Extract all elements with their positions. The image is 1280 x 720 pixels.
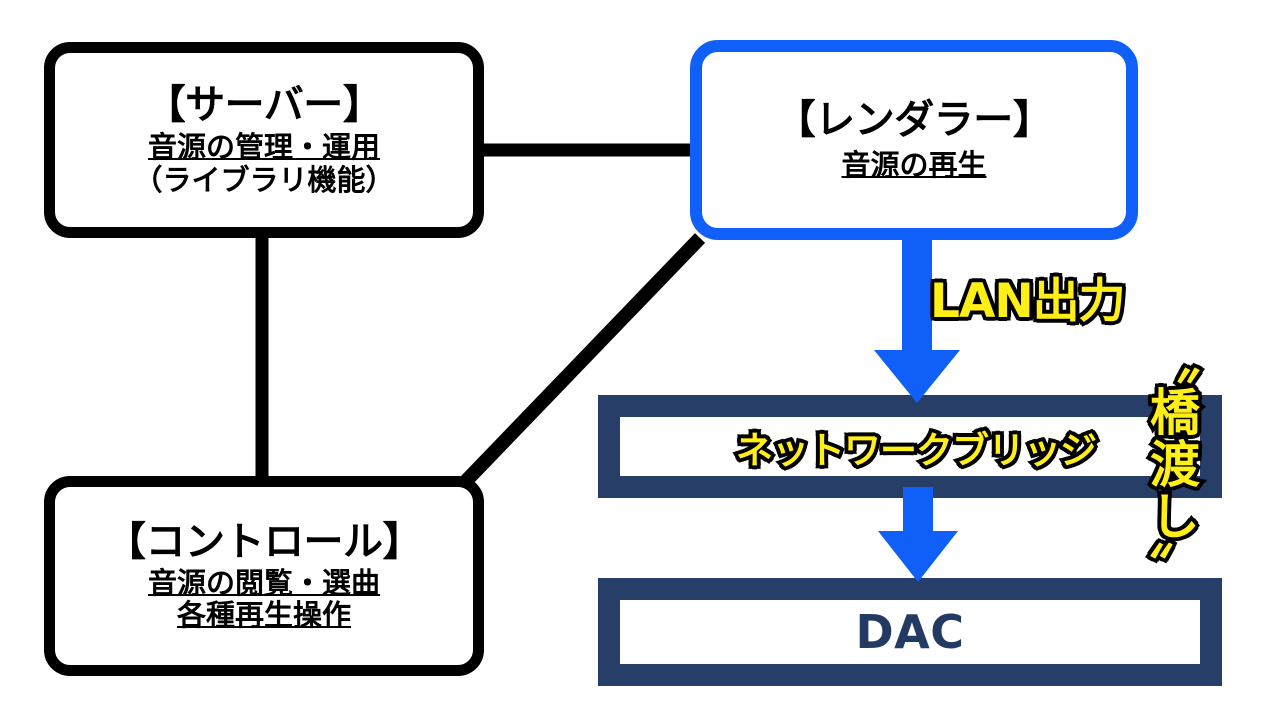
node-network-bridge[interactable]: ネットワークブリッジ — [598, 395, 1222, 498]
node-dac[interactable]: DAC — [598, 578, 1222, 686]
node-renderer[interactable]: 【レンダラー】 音源の再生 — [690, 40, 1138, 240]
node-control[interactable]: 【コントロール】 音源の閲覧・選曲 各種再生操作 — [44, 476, 484, 676]
node-dac-inner: DAC — [620, 600, 1200, 664]
node-control-subtitle-2: 各種再生操作 — [177, 600, 351, 630]
node-renderer-subtitle-1: 音源の再生 — [841, 150, 986, 180]
annotation-bridging: 〝橋渡し〟 — [1146, 334, 1196, 594]
arrow-bridge-to-dac — [876, 487, 960, 583]
node-server-subtitle-2: （ライブラリ機能） — [133, 165, 394, 195]
node-renderer-title: 【レンダラー】 — [776, 100, 1053, 142]
node-server[interactable]: 【サーバー】 音源の管理・運用 （ライブラリ機能） — [44, 42, 484, 238]
node-server-subtitle-1: 音源の管理・運用 — [148, 132, 380, 162]
annotation-lan-output: LAN出力 — [930, 262, 1125, 331]
node-control-title: 【コントロール】 — [106, 522, 422, 564]
node-dac-label: DAC — [855, 605, 964, 659]
node-server-title: 【サーバー】 — [146, 85, 383, 127]
node-network-bridge-label: ネットワークブリッジ — [736, 420, 1096, 474]
node-network-bridge-inner: ネットワークブリッジ — [620, 417, 1200, 476]
diagram-canvas: 【サーバー】 音源の管理・運用 （ライブラリ機能） 【レンダラー】 音源の再生 … — [0, 0, 1280, 720]
node-control-subtitle-1: 音源の閲覧・選曲 — [148, 568, 380, 598]
